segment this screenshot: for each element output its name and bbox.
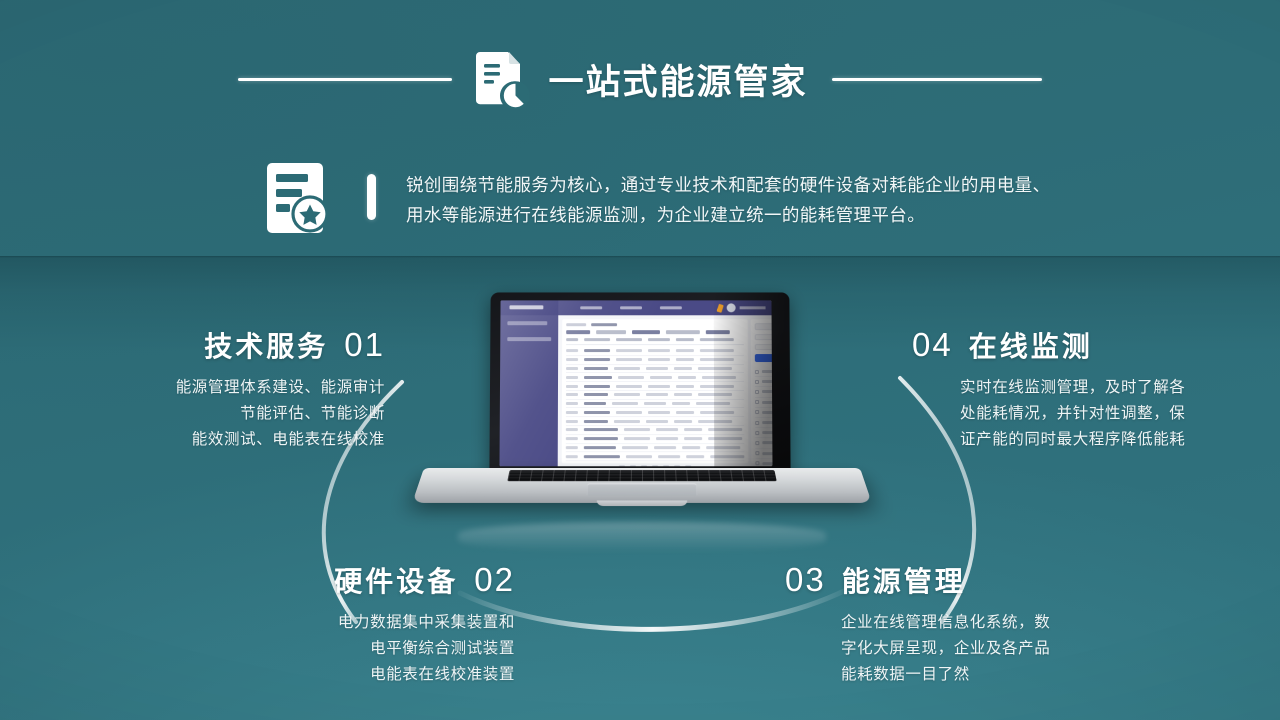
laptop-mockup [424, 292, 860, 538]
page-title: 一站式能源管家 [548, 54, 807, 105]
checkbox-item[interactable] [755, 367, 773, 377]
feature-desc-line: 企业在线管理信息化系统，数 [841, 610, 1165, 636]
checkbox-item[interactable] [755, 418, 772, 428]
table-row[interactable] [566, 391, 744, 400]
table-row[interactable] [566, 347, 744, 356]
slide-canvas: 一站式能源管家 锐创围绕节能服务为核心，通过专业技术和配套的硬件设备对耗能企业的… [0, 0, 1280, 720]
table-row[interactable] [566, 426, 744, 435]
laptop-reflection [458, 522, 826, 552]
dashboard-topbar [500, 300, 771, 315]
checkbox-item[interactable] [755, 459, 772, 466]
feature-title-04: 在线监测 [969, 325, 1093, 365]
feature-desc-line: 能源管理体系建设、能源审计 [20, 375, 385, 401]
checkbox-item[interactable] [755, 449, 772, 459]
table-row[interactable] [566, 417, 744, 426]
feature-title-03: 能源管理 [842, 560, 966, 600]
feature-desc-line: 电平衡综合测试装置 [150, 636, 515, 662]
dashboard-nav [580, 306, 682, 309]
feature-title-01: 技术服务 [204, 325, 328, 365]
feature-desc-line: 能效测试、电能表在线校准 [20, 427, 385, 453]
feature-desc-line: 节能评估、节能诊断 [20, 401, 385, 427]
intro-line-1: 锐创围绕节能服务为核心，通过专业技术和配套的硬件设备对耗能企业的用电量、 [406, 170, 1050, 200]
feature-desc-line: 电能表在线校准装置 [150, 662, 515, 688]
header-rule-right [832, 78, 1042, 81]
feature-desc-line: 字化大屏呈现，企业及各产品 [841, 636, 1165, 662]
checkbox-item[interactable] [755, 387, 772, 397]
feature-number-03: 03 [785, 561, 826, 599]
intro-block: 锐创围绕节能服务为核心，通过专业技术和配套的硬件设备对耗能企业的用电量、 用水等… [266, 160, 1240, 234]
pen-icon [717, 303, 724, 312]
table-row[interactable] [566, 435, 744, 444]
feature-block-04: 04 在线监测 实时在线监测管理，及时了解各 处能耗情况，并针对性调整，保 证产… [912, 325, 1280, 453]
slide-header: 一站式能源管家 [0, 44, 1280, 114]
dashboard-sidebar [499, 315, 558, 466]
avatar [727, 303, 736, 312]
feature-block-03: 03 能源管理 企业在线管理信息化系统，数 字化大屏呈现，企业及各产品 能耗数据… [785, 560, 1165, 688]
intro-divider-bar [367, 174, 376, 220]
title-group: 一站式能源管家 [476, 49, 807, 109]
table-row[interactable] [566, 382, 744, 391]
nav-item[interactable] [580, 306, 602, 309]
feature-block-02: 硬件设备 02 电力数据集中采集装置和 电平衡综合测试装置 电能表在线校准装置 [150, 560, 515, 688]
table-pagination[interactable] [566, 465, 745, 466]
nav-item[interactable] [620, 306, 642, 309]
table-row[interactable] [566, 400, 744, 409]
dashboard-account[interactable] [718, 303, 772, 312]
nav-item[interactable] [660, 306, 682, 309]
filter-bar[interactable] [566, 330, 744, 334]
table-row[interactable] [566, 365, 744, 374]
feature-number-04: 04 [912, 326, 953, 364]
document-star-icon [266, 162, 332, 234]
table-row[interactable] [566, 356, 744, 365]
feature-desc-01: 能源管理体系建设、能源审计 节能评估、节能诊断 能效测试、电能表在线校准 [20, 375, 385, 453]
intro-text: 锐创围绕节能服务为核心，通过专业技术和配套的硬件设备对耗能企业的用电量、 用水等… [406, 160, 1050, 230]
feature-desc-line: 能耗数据一目了然 [841, 662, 1165, 688]
side-filter-panel [751, 319, 773, 463]
table-row[interactable] [566, 408, 744, 417]
base-lip [596, 500, 687, 506]
feature-block-01: 技术服务 01 能源管理体系建设、能源审计 节能评估、节能诊断 能效测试、电能表… [20, 325, 385, 453]
feature-title-02: 硬件设备 [334, 560, 458, 600]
feature-desc-line: 电力数据集中采集装置和 [150, 610, 515, 636]
checkbox-item[interactable] [755, 398, 772, 408]
feature-desc-04: 实时在线监测管理，及时了解各 处能耗情况，并针对性调整，保 证产能的同时最大程序… [912, 375, 1280, 453]
feature-desc-03: 企业在线管理信息化系统，数 字化大屏呈现，企业及各产品 能耗数据一目了然 [785, 610, 1165, 688]
table-row[interactable] [566, 453, 745, 462]
checkbox-item[interactable] [755, 428, 772, 438]
feature-desc-line: 处能耗情况，并针对性调整，保 [960, 401, 1280, 427]
primary-button[interactable] [755, 354, 773, 362]
select-field[interactable] [755, 344, 773, 350]
feature-desc-line: 实时在线监测管理，及时了解各 [960, 375, 1280, 401]
keyboard [507, 470, 776, 481]
document-chart-icon [476, 49, 532, 109]
trackpad [587, 483, 698, 495]
checkbox-item[interactable] [755, 438, 772, 448]
dashboard-logo [500, 300, 558, 315]
laptop-lid [489, 292, 790, 480]
sidebar-item[interactable] [507, 337, 551, 341]
feature-number-02: 02 [474, 561, 515, 599]
breadcrumb [566, 323, 744, 326]
feature-desc-line: 证产能的同时最大程序降低能耗 [960, 427, 1280, 453]
header-rule-left [238, 78, 452, 81]
laptop-screen [499, 300, 772, 466]
table-row[interactable] [566, 373, 744, 382]
table-row[interactable] [566, 444, 745, 453]
sidebar-item[interactable] [507, 321, 547, 325]
select-field[interactable] [755, 334, 773, 340]
feature-number-01: 01 [344, 326, 385, 364]
checkbox-item[interactable] [755, 377, 773, 387]
feature-desc-02: 电力数据集中采集装置和 电平衡综合测试装置 电能表在线校准装置 [150, 610, 515, 688]
intro-line-2: 用水等能源进行在线能源监测，为企业建立统一的能耗管理平台。 [406, 200, 1050, 230]
table-header-row [566, 338, 744, 345]
search-input[interactable] [755, 323, 773, 330]
checkbox-item[interactable] [755, 408, 772, 418]
laptop-base [412, 468, 872, 503]
data-table-panel [562, 319, 749, 463]
header-band-edge [0, 256, 1280, 258]
